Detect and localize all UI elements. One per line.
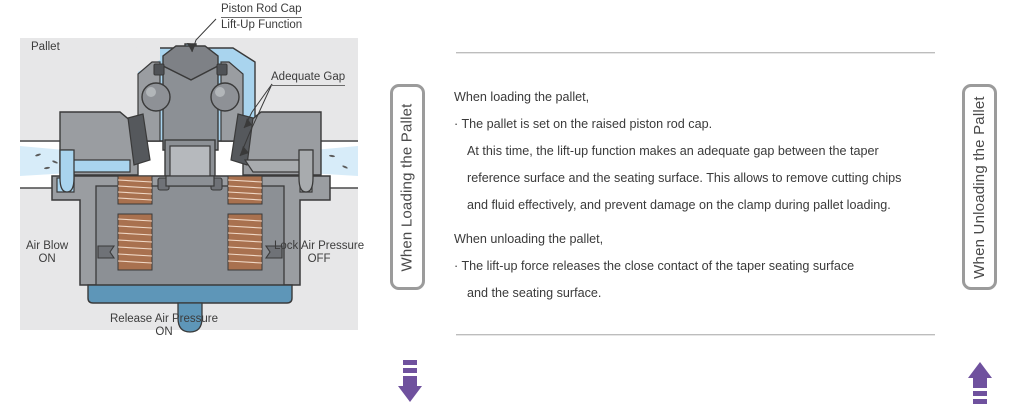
label-air-blow: Air Blow ON bbox=[26, 240, 68, 266]
divider-bottom bbox=[456, 334, 935, 336]
label-lock-air-title: Lock Air Pressure bbox=[274, 240, 364, 253]
rod-bushing bbox=[166, 146, 214, 186]
arrow-down-icon bbox=[398, 360, 422, 404]
tab-left-label: When Loading the Pallet bbox=[399, 103, 416, 271]
label-air-blow-title: Air Blow bbox=[26, 240, 68, 253]
clamp-cross-section-diagram: Piston Rod Cap Lift-Up Function Adequate… bbox=[0, 0, 378, 414]
air-blow-port bbox=[60, 150, 74, 192]
callout-piston-rod-cap: Piston Rod Cap bbox=[221, 2, 302, 18]
label-air-blow-state: ON bbox=[26, 253, 68, 266]
tab-when-unloading-the-pallet[interactable]: When Unloading the Pallet bbox=[962, 84, 997, 290]
label-release-air-state: ON bbox=[110, 326, 218, 339]
release-chamber bbox=[88, 285, 292, 303]
explanation-text: When loading the pallet,· The pallet is … bbox=[454, 84, 938, 307]
lock-air-port bbox=[299, 150, 313, 192]
page-root: Piston Rod Cap Lift-Up Function Adequate… bbox=[0, 0, 1028, 414]
label-release-air-pressure: Release Air Pressure ON bbox=[110, 313, 218, 339]
paragraph-gap bbox=[454, 219, 938, 226]
text-line: When unloading the pallet, bbox=[454, 226, 938, 253]
arrow-up-icon bbox=[968, 360, 992, 404]
text-line: · The lift-up force releases the close c… bbox=[454, 253, 938, 280]
text-line: At this time, the lift-up function makes… bbox=[454, 138, 938, 165]
label-lock-air-state: OFF bbox=[274, 253, 364, 266]
text-line: and fluid effectively, and prevent damag… bbox=[454, 192, 938, 219]
tab-when-loading-the-pallet[interactable]: When Loading the Pallet bbox=[390, 84, 425, 290]
text-line: reference surface and the seating surfac… bbox=[454, 165, 938, 192]
divider-top bbox=[456, 52, 935, 54]
callout-adequate-gap: Adequate Gap bbox=[271, 70, 345, 86]
label-pallet: Pallet bbox=[31, 40, 60, 54]
text-line: · The pallet is set on the raised piston… bbox=[454, 111, 938, 138]
tab-right-label: When Unloading the Pallet bbox=[971, 96, 988, 279]
callout-lift-up-function: Lift-Up Function bbox=[221, 18, 302, 32]
piston-rod-cap bbox=[163, 46, 218, 150]
label-release-air-title: Release Air Pressure bbox=[110, 313, 218, 326]
clamp-diagram-svg bbox=[0, 0, 378, 414]
text-line: When loading the pallet, bbox=[454, 84, 938, 111]
label-lock-air-pressure: Lock Air Pressure OFF bbox=[274, 240, 364, 266]
text-line: and the seating surface. bbox=[454, 280, 938, 307]
